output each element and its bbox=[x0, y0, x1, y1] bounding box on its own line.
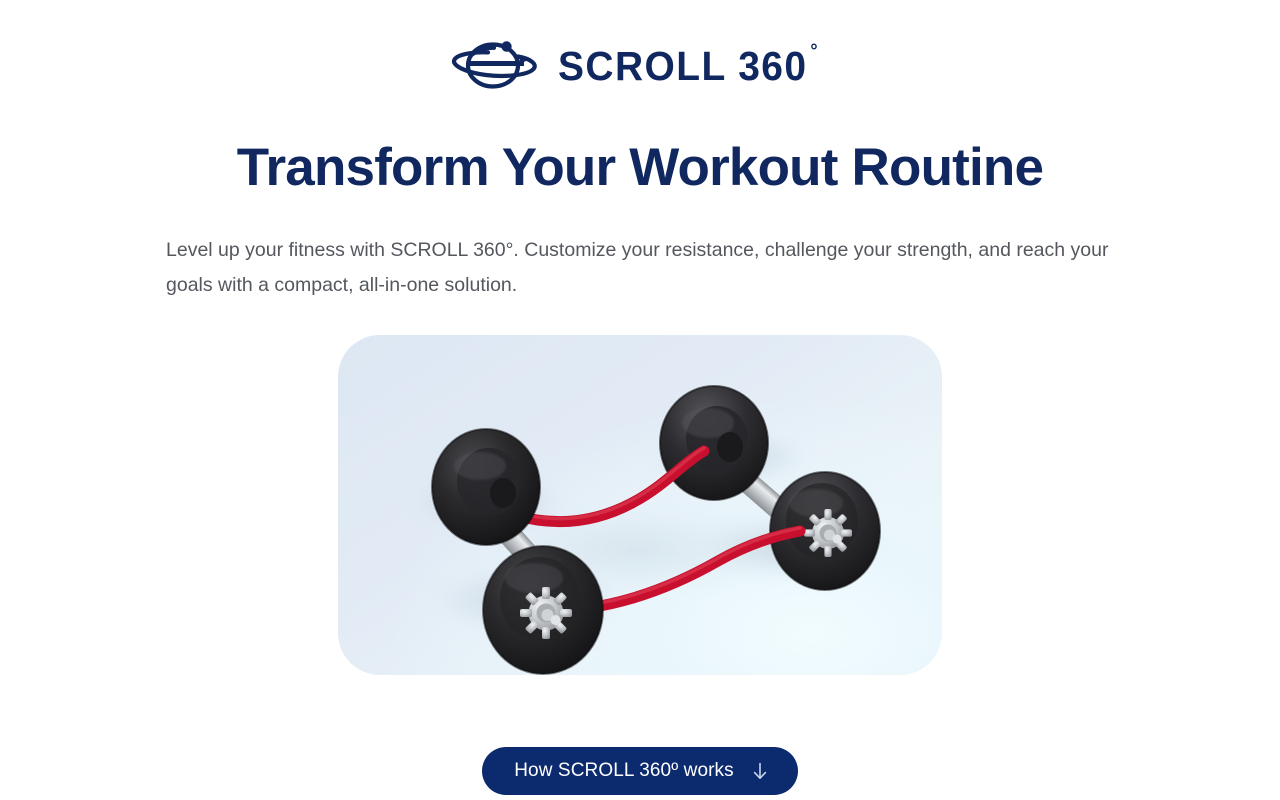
landing-page: SCROLL 360 ° Transform Your Workout Rout… bbox=[0, 0, 1280, 800]
cta-container: How SCROLL 360º works bbox=[0, 747, 1280, 795]
arrow-down-icon bbox=[752, 762, 768, 780]
globe-orbit-icon bbox=[448, 32, 542, 94]
product-image bbox=[338, 335, 942, 675]
hero-subtitle: Level up your fitness with SCROLL 360°. … bbox=[166, 197, 1114, 303]
brand-wordmark-text: SCROLL 360 bbox=[558, 40, 807, 87]
how-it-works-button[interactable]: How SCROLL 360º works bbox=[482, 747, 798, 795]
page-title: Transform Your Workout Routine bbox=[237, 94, 1043, 197]
brand-degree-symbol: ° bbox=[807, 40, 819, 61]
brand-wordmark: SCROLL 360 ° bbox=[558, 40, 819, 87]
how-it-works-label: How SCROLL 360º works bbox=[514, 760, 734, 782]
brand-logo[interactable]: SCROLL 360 ° bbox=[448, 32, 833, 94]
